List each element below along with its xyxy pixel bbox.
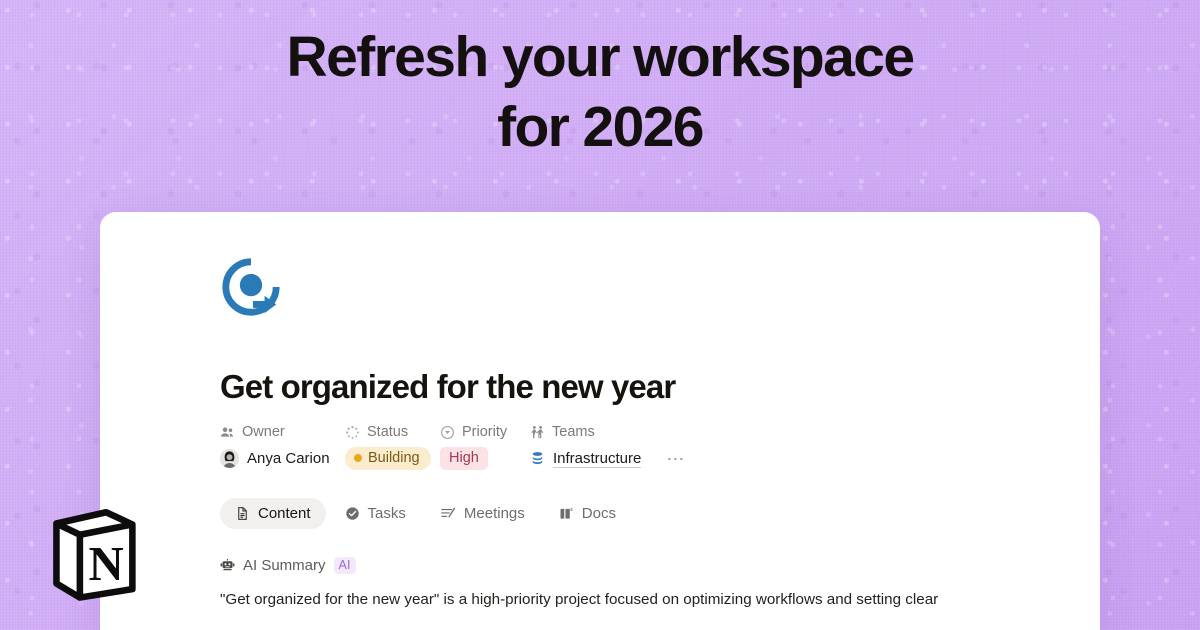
- lines-pen-icon: [440, 506, 456, 521]
- poster-canvas: Refresh your workspace for 2026 Get orga…: [0, 0, 1200, 630]
- status-badge[interactable]: Building: [345, 447, 431, 470]
- status-badge-label: Building: [368, 450, 420, 466]
- property-label-text: Priority: [462, 424, 507, 440]
- property-label-text: Owner: [242, 424, 285, 440]
- tab-label: Docs: [582, 505, 616, 522]
- tab-label: Meetings: [464, 505, 525, 522]
- product-screenshot-card: Get organized for the new year Owner: [100, 212, 1100, 630]
- owner-name: Anya Carion: [247, 450, 330, 467]
- project-refresh-ring-icon: [220, 256, 282, 318]
- ai-badge: AI: [334, 557, 356, 574]
- more-properties-button[interactable]: ⋯: [666, 454, 686, 464]
- status-dot-icon: [354, 454, 362, 462]
- spinner-dots-icon: [345, 425, 360, 440]
- priority-badge-label: High: [449, 450, 479, 466]
- headline-line-1: Refresh your workspace: [287, 25, 914, 89]
- page-title: Get organized for the new year: [220, 368, 1100, 406]
- priority-badge[interactable]: High: [440, 447, 488, 470]
- stacked-docs-icon: [559, 506, 574, 521]
- tab-docs[interactable]: Docs: [544, 498, 631, 529]
- file-document-icon: [235, 506, 250, 521]
- property-value-owner[interactable]: Anya Carion: [220, 449, 345, 468]
- notion-cube-logo: N: [48, 506, 138, 601]
- property-label-status: Status: [345, 424, 440, 440]
- notion-logo-letter: N: [89, 537, 124, 591]
- ai-summary-header: AI Summary AI: [220, 557, 1100, 574]
- property-values-row: Anya Carion Building High: [220, 447, 1100, 470]
- tab-meetings[interactable]: Meetings: [425, 498, 540, 529]
- tab-content[interactable]: Content: [220, 498, 326, 529]
- ai-summary-body: "Get organized for the new year" is a hi…: [220, 587, 980, 612]
- property-label-text: Teams: [552, 424, 595, 440]
- tab-label: Content: [258, 505, 311, 522]
- property-value-status[interactable]: Building: [345, 447, 440, 470]
- people-icon: [220, 425, 235, 440]
- avatar: [220, 449, 239, 468]
- property-value-priority[interactable]: High: [440, 447, 530, 470]
- property-label-text: Status: [367, 424, 408, 440]
- properties-panel: Owner Status: [220, 424, 1100, 470]
- tab-label: Tasks: [368, 505, 406, 522]
- property-value-teams[interactable]: Infrastructure ⋯: [530, 450, 690, 468]
- property-labels-row: Owner Status: [220, 424, 1100, 440]
- team-name: Infrastructure: [553, 450, 641, 468]
- property-label-owner: Owner: [220, 424, 345, 440]
- two-people-standing-icon: [530, 425, 545, 440]
- circle-chevron-down-icon: [440, 425, 455, 440]
- tab-tasks[interactable]: Tasks: [330, 498, 421, 529]
- property-label-priority: Priority: [440, 424, 530, 440]
- page-headline: Refresh your workspace for 2026: [0, 22, 1200, 162]
- check-circle-icon: [345, 506, 360, 521]
- database-stack-icon: [530, 451, 545, 466]
- ai-summary-label: AI Summary: [243, 557, 326, 574]
- robot-icon: [220, 558, 235, 573]
- content-tabs: Content Tasks: [220, 498, 1100, 529]
- headline-line-2: for 2026: [0, 92, 1200, 162]
- property-label-teams: Teams: [530, 424, 690, 440]
